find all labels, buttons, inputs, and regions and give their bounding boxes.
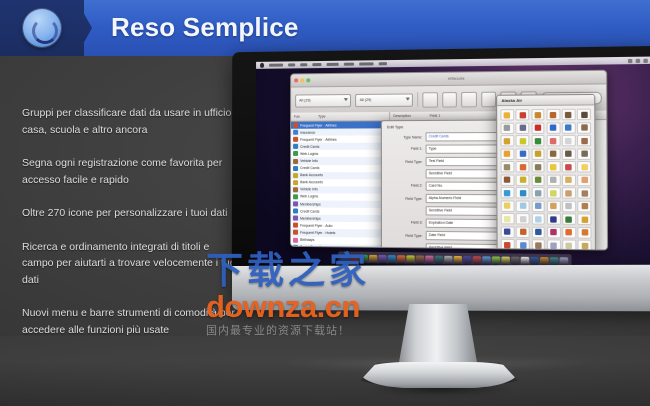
icon-picker-cell[interactable] [562, 148, 576, 160]
record-type-label: Frequent Flyer - Hotels [300, 231, 335, 235]
dock-icon[interactable] [369, 255, 377, 263]
toolbar-divider [417, 92, 418, 106]
field-number-label: Field 1: [387, 147, 422, 151]
record-icon [535, 216, 541, 222]
mac-dock[interactable] [338, 251, 571, 265]
column-header-type: Type [318, 114, 325, 118]
record-type-label: Vehicle Info [300, 159, 318, 163]
icon-picker-cell[interactable] [516, 161, 530, 172]
icon-picker-cell[interactable] [516, 213, 530, 225]
record-icon [504, 241, 510, 247]
icon-picker-cell[interactable] [546, 122, 560, 134]
record-type-label: Credit Cards [300, 145, 319, 149]
icon-picker-cell[interactable] [547, 187, 561, 199]
promo-screenshot: Reso Semplice Gruppi per classificare da… [0, 0, 650, 406]
icon-picker-cell[interactable] [531, 239, 545, 250]
icon-picker-cell[interactable] [547, 226, 561, 238]
record-type-icon [293, 223, 298, 228]
banner-chevron-shape [66, 0, 92, 56]
record-type-icon [293, 216, 298, 221]
record-icon [550, 164, 557, 170]
record-type-label: Bank Accounts [300, 180, 323, 184]
record-icon [566, 216, 573, 222]
icon-picker-cell[interactable] [516, 187, 530, 199]
icon-picker-cell[interactable] [531, 226, 545, 238]
record-icon [535, 138, 541, 144]
record-icon [566, 203, 573, 209]
record-type-label: Vehicle Info [300, 188, 318, 192]
icon-picker-cell[interactable] [547, 213, 561, 225]
feature-item: Oltre 270 icone per personalizzare i tuo… [22, 205, 240, 222]
record-icon [550, 111, 557, 117]
clock-icon[interactable] [643, 58, 647, 62]
record-icon [535, 203, 541, 209]
icon-picker-cell[interactable] [562, 187, 576, 199]
record-icon [520, 216, 526, 222]
dock-icon[interactable] [416, 255, 424, 263]
record-icon [550, 177, 557, 183]
record-icon [565, 124, 572, 130]
icon-picker-cell[interactable] [516, 135, 530, 146]
icon-picker-cell[interactable] [562, 226, 576, 238]
dock-icon[interactable] [473, 256, 482, 264]
icon-picker-cell[interactable] [546, 161, 560, 172]
record-icon [581, 124, 588, 130]
icon-picker-cell[interactable] [501, 174, 515, 185]
record-icon [504, 164, 510, 170]
record-icon [566, 242, 573, 248]
record-icon [535, 190, 541, 196]
record-icon [520, 229, 526, 235]
dock-icon[interactable] [341, 255, 349, 263]
imac-screen: mSecure All (29) All (29) [256, 56, 650, 268]
record-icon [519, 125, 525, 131]
icon-picker-cell[interactable] [562, 122, 576, 134]
record-list[interactable]: Fav Type Frequent Flyer - AirlinesInsura… [291, 112, 390, 247]
record-icon [565, 137, 572, 143]
record-type-icon [293, 123, 298, 128]
dock-icon[interactable] [444, 256, 452, 264]
record-icon [550, 124, 557, 130]
record-icon [535, 242, 541, 248]
new-group-icon[interactable] [442, 92, 457, 108]
record-icon [519, 138, 525, 144]
record-icon [504, 138, 510, 144]
column-header-field1: Field 1 [430, 114, 441, 118]
record-type-icon [293, 173, 298, 178]
menubar-item[interactable] [300, 63, 307, 66]
icon-picker-cell[interactable] [501, 213, 515, 225]
dock-icon[interactable] [425, 256, 433, 264]
record-type-icon [293, 201, 298, 206]
icon-picker-cell[interactable] [516, 226, 530, 238]
icon-picker-cell[interactable] [516, 122, 530, 133]
record-type-icon [293, 194, 298, 199]
field-type-label: Field Type: [387, 197, 422, 201]
icon-picker-cell[interactable] [531, 200, 545, 212]
feature-item: Segna ogni registrazione come favorita p… [22, 155, 240, 188]
icon-picker-cell[interactable] [531, 109, 545, 121]
battery-icon[interactable] [636, 58, 640, 62]
icon-picker-cell[interactable] [562, 161, 576, 173]
field-number-label: Field 3: [387, 221, 422, 225]
window-title: mSecure [312, 75, 606, 82]
record-icon [535, 229, 541, 235]
record-icon [550, 203, 557, 209]
icon-picker-grid[interactable] [497, 105, 595, 250]
wifi-icon[interactable] [628, 58, 632, 62]
record-icon [566, 229, 573, 235]
record-type-icon [293, 130, 298, 135]
icon-picker-cell[interactable] [577, 109, 591, 121]
record-type-icon [293, 166, 298, 171]
record-icon [504, 177, 510, 183]
record-type-icon [293, 158, 298, 163]
type-filter-dropdown[interactable]: All (29) [356, 93, 413, 107]
record-type-icon [293, 144, 298, 149]
icon-picker-cell[interactable] [547, 200, 561, 212]
icon-picker-cell[interactable] [501, 161, 515, 172]
record-icon [581, 137, 588, 143]
icon-picker-cell[interactable] [546, 135, 560, 147]
record-icon [565, 151, 572, 157]
record-icon [520, 203, 526, 209]
record-type-label: Frequent Flyer - Airlines [300, 137, 337, 141]
dock-icon[interactable] [397, 255, 405, 263]
feature-item: Nuovi menu e barre strumenti di comodità… [22, 305, 240, 338]
record-icon [581, 177, 588, 183]
menubar-item[interactable] [359, 62, 373, 65]
record-type-label: Credit Cards [300, 166, 319, 170]
record-icon [535, 177, 541, 183]
column-header-fav: Fav [294, 115, 300, 119]
record-type-icon [293, 137, 298, 142]
icon-picker-cell[interactable] [562, 213, 576, 225]
table-row[interactable]: Vehicle Info [291, 157, 389, 164]
record-type-icon [293, 230, 298, 235]
record-icon [550, 216, 557, 222]
icon-picker-cell[interactable] [578, 240, 592, 251]
record-icon [519, 177, 525, 183]
dock-icon[interactable] [511, 257, 520, 265]
dock-icon[interactable] [463, 256, 471, 264]
record-icon [519, 112, 525, 118]
record-icon [535, 151, 541, 157]
record-icon [519, 164, 525, 170]
menubar-item[interactable] [269, 64, 283, 67]
icon-picker-cell[interactable] [577, 187, 591, 199]
mac-menubar[interactable] [256, 56, 650, 68]
delete-icon[interactable] [461, 91, 476, 107]
imac-stand-base [360, 362, 518, 388]
close-icon[interactable] [294, 78, 298, 82]
list-column-headers[interactable]: Fav Type [291, 112, 389, 122]
record-type-icon [293, 151, 298, 156]
record-icon [581, 216, 588, 222]
menubar-status-area [628, 58, 650, 63]
icon-picker-cell[interactable] [531, 135, 545, 146]
apple-icon[interactable] [260, 63, 264, 68]
icon-picker-cell[interactable] [562, 174, 576, 186]
smile-glyph [32, 18, 58, 44]
icon-picker-cell[interactable] [546, 109, 560, 121]
feature-item: Ricerca e ordinamento integrati di titol… [22, 239, 240, 289]
record-type-label: Birthdays [300, 238, 314, 242]
record-type-label: Frequent Flyer - Auto [300, 223, 332, 227]
icon-picker-cell[interactable] [516, 239, 530, 250]
icon-picker-cell[interactable] [578, 227, 592, 239]
field-type-label: Field Type: [387, 233, 422, 237]
feature-list: Gruppi per classificare dati da usare in… [22, 105, 240, 338]
app-logo-icon [23, 9, 61, 47]
minimize-icon[interactable] [300, 78, 304, 82]
record-icon [566, 190, 573, 196]
icon-picker-cell[interactable] [531, 161, 545, 172]
record-icon [566, 164, 573, 170]
icon-picker-cell[interactable] [577, 135, 591, 147]
icon-picker-cell[interactable] [577, 161, 591, 173]
menubar-item[interactable] [327, 63, 339, 66]
settings-icon[interactable] [481, 91, 497, 107]
icon-picker-cell[interactable] [501, 239, 515, 251]
column-header-desc: Description [393, 114, 411, 118]
record-icon [566, 177, 573, 183]
record-icon [581, 242, 588, 248]
record-type-label: Insurance [300, 130, 315, 134]
icon-picker-cell[interactable] [577, 148, 591, 160]
icon-picker-cell[interactable] [531, 148, 545, 159]
icon-picker-cell[interactable] [546, 148, 560, 159]
record-icon [581, 229, 588, 235]
icon-picker-cell[interactable] [500, 109, 514, 120]
record-icon [550, 138, 557, 144]
record-type-icon [293, 244, 298, 246]
menubar-item[interactable] [344, 63, 354, 66]
dock-icon[interactable] [378, 255, 386, 263]
icon-picker-cell[interactable] [501, 200, 515, 212]
icon-picker-cell[interactable] [531, 174, 545, 185]
icon-picker-cell[interactable] [531, 187, 545, 199]
icon-picker-cell[interactable] [562, 200, 576, 212]
record-icon [550, 229, 557, 235]
record-icon [504, 215, 510, 221]
icon-picker-cell[interactable] [501, 187, 515, 198]
menubar-item[interactable] [312, 63, 321, 66]
record-icon [504, 125, 510, 131]
icon-picker-cell[interactable] [501, 226, 515, 238]
record-icon [519, 151, 525, 157]
app-window: mSecure All (29) All (29) [290, 70, 608, 251]
record-type-icon [293, 237, 298, 242]
record-type-icon [293, 187, 298, 192]
record-type-icon [293, 180, 298, 185]
dock-icon[interactable] [360, 255, 368, 263]
menubar-item[interactable] [288, 63, 295, 66]
page-title: Reso Semplice [111, 12, 299, 43]
icon-picker-cell[interactable] [577, 200, 591, 212]
record-icon [504, 228, 510, 234]
record-icon [520, 242, 526, 248]
record-icon [550, 190, 557, 196]
icon-picker-cell[interactable] [546, 174, 560, 186]
record-icon [535, 112, 541, 118]
feature-item: Gruppi per classificare dati da usare in… [22, 105, 240, 138]
icon-picker-cell[interactable] [531, 213, 545, 225]
field-type-label: Field Type: [387, 160, 422, 164]
record-type-label: Web Logins [300, 152, 318, 156]
icon-picker-panel: Alaska Air [496, 94, 596, 251]
imac-illustration: mSecure All (29) All (29) [232, 52, 650, 406]
record-icon [504, 112, 510, 118]
imac-bezel: mSecure All (29) All (29) [232, 46, 650, 277]
icon-picker-cell[interactable] [516, 174, 530, 185]
dock-icon[interactable] [351, 255, 359, 263]
record-icon [504, 190, 510, 196]
record-icon [581, 151, 588, 157]
icon-picker-cell[interactable] [500, 122, 514, 133]
record-type-label: Credit Cards [300, 209, 319, 213]
icon-picker-cell[interactable] [562, 135, 576, 147]
icon-picker-cell[interactable] [516, 148, 530, 159]
new-record-icon[interactable] [422, 92, 437, 107]
icon-picker-cell[interactable] [516, 109, 530, 120]
icon-picker-cell[interactable] [500, 135, 514, 146]
dock-icon[interactable] [501, 257, 510, 265]
dock-icon[interactable] [388, 255, 396, 263]
type-name-label: Type Name: [387, 135, 422, 139]
record-type-label: Social Security [300, 245, 323, 247]
record-icon [535, 125, 541, 131]
menubar-item[interactable] [379, 62, 387, 65]
dock-icon[interactable] [482, 256, 491, 264]
record-type-label: Memberships [300, 216, 321, 220]
icon-picker-cell[interactable] [501, 148, 515, 159]
record-type-label: Web Logins [300, 195, 318, 199]
icon-picker-cell[interactable] [577, 174, 591, 186]
dock-icon[interactable] [406, 255, 414, 263]
record-type-icon [293, 209, 298, 214]
record-icon [581, 203, 588, 209]
dock-icon[interactable] [521, 257, 530, 265]
table-row[interactable]: Social Security [291, 243, 389, 247]
imac-stand-neck [398, 304, 478, 368]
group-filter-dropdown[interactable]: All (29) [295, 94, 351, 108]
dock-icon[interactable] [435, 256, 443, 264]
icon-picker-title: Alaska Air [497, 95, 594, 106]
record-icon [550, 151, 557, 157]
record-icon [504, 151, 510, 157]
record-icon [565, 111, 572, 117]
record-icon [535, 164, 541, 170]
record-icon [581, 190, 588, 196]
icon-picker-cell[interactable] [531, 122, 545, 134]
record-type-label: Frequent Flyer - Airlines [300, 123, 337, 127]
record-icon [581, 111, 588, 117]
icon-picker-cell[interactable] [562, 239, 576, 250]
icon-picker-cell[interactable] [547, 239, 561, 250]
icon-picker-cell[interactable] [577, 122, 591, 134]
apple-logo-icon [428, 276, 444, 295]
dock-icon[interactable] [492, 256, 501, 264]
record-icon [504, 203, 510, 209]
record-icon [581, 164, 588, 170]
record-icon [550, 242, 557, 248]
record-type-label: Bank Accounts [300, 173, 323, 177]
icon-picker-cell[interactable] [516, 200, 530, 212]
field-number-label: Field 2: [387, 184, 422, 188]
icon-picker-cell[interactable] [562, 109, 576, 121]
zoom-icon[interactable] [306, 78, 310, 82]
record-type-label: Memberships [300, 202, 321, 206]
table-row[interactable]: Web Logins [291, 150, 389, 157]
dock-icon[interactable] [454, 256, 462, 264]
icon-picker-cell[interactable] [578, 213, 592, 225]
record-icon [519, 190, 525, 196]
